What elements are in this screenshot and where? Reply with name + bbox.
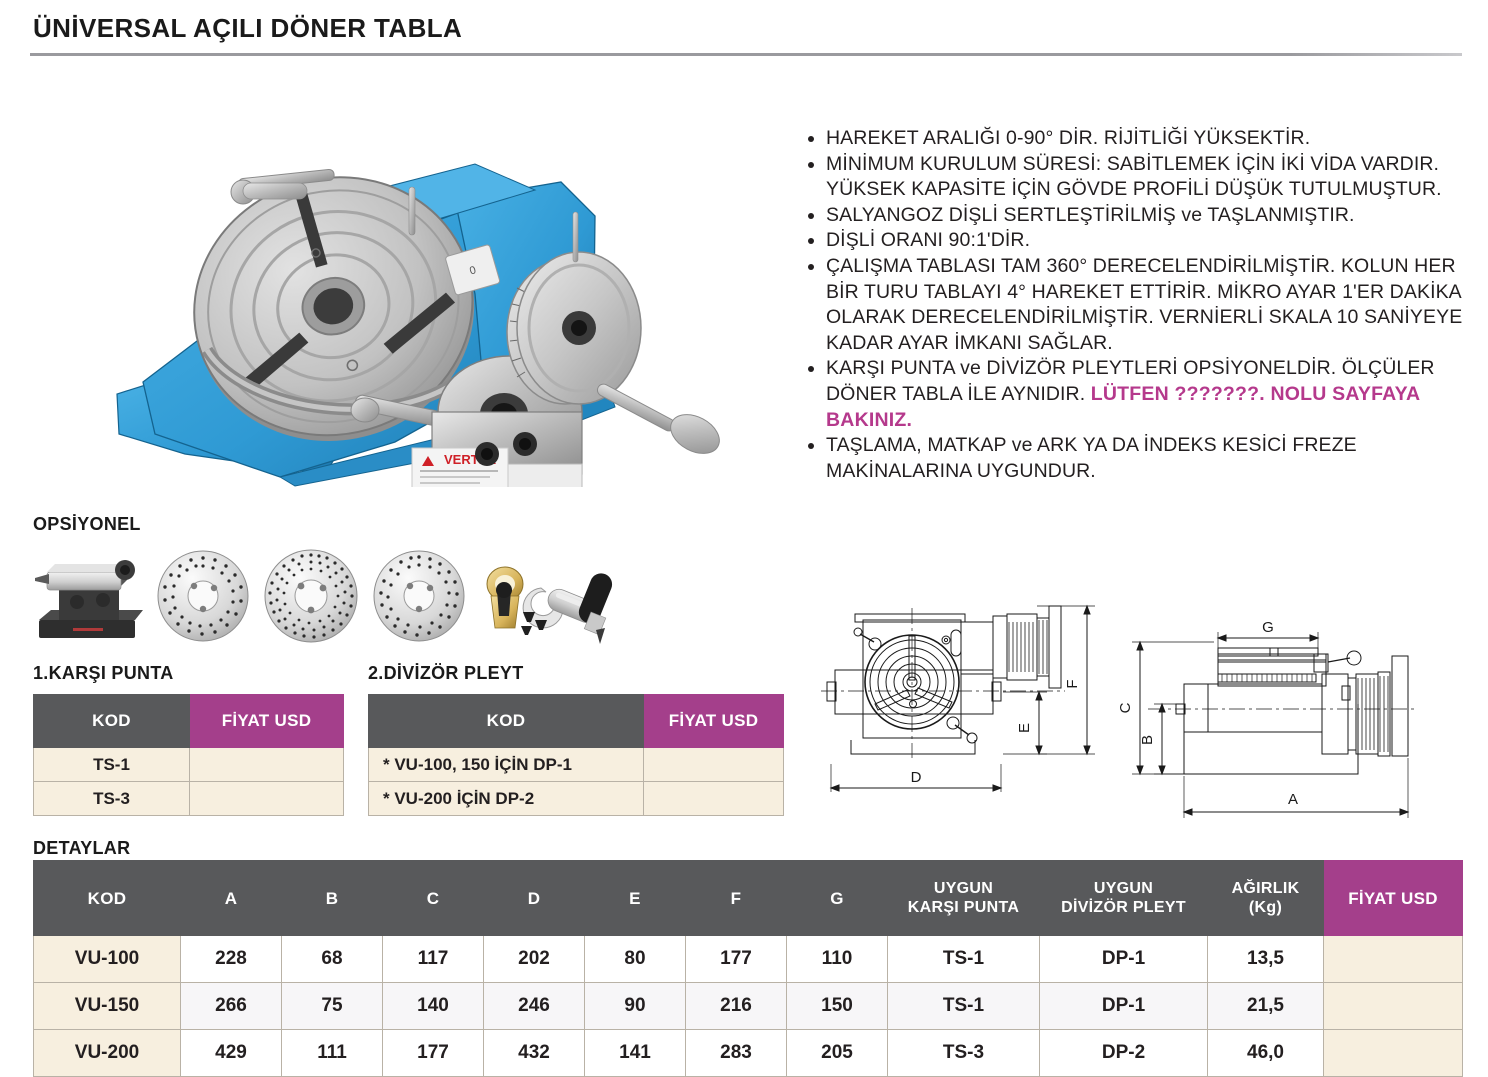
cell-kod: TS-3 <box>34 782 190 816</box>
cell-g: 150 <box>787 983 888 1030</box>
cell-fiyat <box>644 748 784 782</box>
feature-item: SALYANGOZ DİŞLİ SERTLEŞTİRİLMİŞ ve TAŞLA… <box>806 203 1466 229</box>
cell-kod: * VU-200 İÇİN DP-2 <box>369 782 644 816</box>
table-row: TS-1 <box>34 748 344 782</box>
cell-plaka: DP-1 <box>1040 983 1208 1030</box>
feature-item: HAREKET ARALIĞI 0-90° DİR. RİJİTLİĞİ YÜK… <box>806 126 1466 152</box>
technical-drawing-side-view: G C B A <box>1118 612 1458 833</box>
column-header-uygun-divizor-pleyt: UYGUN DİVİZÖR PLEYT <box>1040 861 1208 936</box>
column-header-agirlik: AĞIRLIK (Kg) <box>1208 861 1324 936</box>
divider-plate-1 <box>158 551 248 641</box>
table-row: VU-200 429 111 177 432 141 283 205 TS-3 … <box>34 1030 1463 1077</box>
column-header-g: G <box>787 861 888 936</box>
cell-e: 80 <box>585 936 686 983</box>
cell-agirlik: 13,5 <box>1208 936 1324 983</box>
table-header-row: KOD FİYAT USD <box>34 695 344 748</box>
dim-label-F: F <box>1064 679 1081 688</box>
cell-g: 110 <box>787 936 888 983</box>
header-line-2: DİVİZÖR PLEYT <box>1061 899 1186 916</box>
title-divider <box>30 53 1462 56</box>
section-heading-opsiyonel: OPSİYONEL <box>33 514 141 535</box>
cell-fiyat <box>1324 936 1463 983</box>
cell-fiyat <box>1324 983 1463 1030</box>
cell-f: 283 <box>686 1030 787 1077</box>
cell-agirlik: 21,5 <box>1208 983 1324 1030</box>
cell-plaka: DP-2 <box>1040 1030 1208 1077</box>
section-heading-divizor-pleyt: 2.DİVİZÖR PLEYT <box>368 663 524 684</box>
dim-label-D: D <box>911 769 922 786</box>
cell-kod: * VU-100, 150 İÇİN DP-1 <box>369 748 644 782</box>
cell-b: 75 <box>282 983 383 1030</box>
divizor-pleyt-table: KOD FİYAT USD * VU-100, 150 İÇİN DP-1 * … <box>368 694 784 816</box>
cell-f: 216 <box>686 983 787 1030</box>
feature-item: KARŞI PUNTA ve DİVİZÖR PLEYTLERİ OPSİYON… <box>806 356 1466 433</box>
karsi-punta-table: KOD FİYAT USD TS-1 TS-3 <box>33 694 344 816</box>
cell-d: 246 <box>484 983 585 1030</box>
table-row: VU-100 228 68 117 202 80 177 110 TS-1 DP… <box>34 936 1463 983</box>
cell-punta: TS-3 <box>888 1030 1040 1077</box>
cell-a: 266 <box>181 983 282 1030</box>
feature-item: ÇALIŞMA TABLASI TAM 360° DERECELENDİRİLM… <box>806 254 1466 356</box>
table-header-row: KOD FİYAT USD <box>369 695 784 748</box>
feature-item: MİNİMUM KURULUM SÜRESİ: SABİTLEMEK İÇİN … <box>806 152 1466 203</box>
cell-fiyat <box>190 782 344 816</box>
header-line-2: (Kg) <box>1249 899 1282 916</box>
table-row: TS-3 <box>34 782 344 816</box>
cell-a: 228 <box>181 936 282 983</box>
column-header-b: B <box>282 861 383 936</box>
cell-plaka: DP-1 <box>1040 936 1208 983</box>
cell-c: 177 <box>383 1030 484 1077</box>
cell-c: 140 <box>383 983 484 1030</box>
dim-label-C: C <box>1118 702 1134 713</box>
page-title: ÜNİVERSAL AÇILI DÖNER TABLA <box>33 13 462 44</box>
cell-agirlik: 46,0 <box>1208 1030 1324 1077</box>
cell-fiyat <box>644 782 784 816</box>
column-header-kod: KOD <box>34 861 181 936</box>
dim-label-G: G <box>1262 619 1274 636</box>
column-header-c: C <box>383 861 484 936</box>
optional-accessories-strip <box>33 548 643 644</box>
dim-label-A: A <box>1288 791 1298 808</box>
table-row: * VU-200 İÇİN DP-2 <box>369 782 784 816</box>
column-header-uygun-karsi-punta: UYGUN KARŞI PUNTA <box>888 861 1040 936</box>
cell-kod: VU-200 <box>34 1030 181 1077</box>
table-row: VU-150 266 75 140 246 90 216 150 TS-1 DP… <box>34 983 1463 1030</box>
section-heading-detaylar: DETAYLAR <box>33 838 130 859</box>
feature-list: HAREKET ARALIĞI 0-90° DİR. RİJİTLİĞİ YÜK… <box>806 126 1466 484</box>
cell-c: 117 <box>383 936 484 983</box>
cell-d: 202 <box>484 936 585 983</box>
cell-e: 90 <box>585 983 686 1030</box>
column-header-fiyat: FİYAT USD <box>1324 861 1463 936</box>
cell-f: 177 <box>686 936 787 983</box>
dim-label-B: B <box>1139 735 1156 745</box>
section-heading-karsi-punta: 1.KARŞI PUNTA <box>33 663 174 684</box>
cell-b: 68 <box>282 936 383 983</box>
detaylar-table: KOD A B C D E F G UYGUN KARŞI PUNTA UYGU… <box>33 860 1463 1077</box>
product-photo: 0 VERTEX <box>95 82 735 487</box>
cell-kod: VU-100 <box>34 936 181 983</box>
column-header-e: E <box>585 861 686 936</box>
cell-fiyat <box>190 748 344 782</box>
cell-kod: TS-1 <box>34 748 190 782</box>
table-header-row: KOD A B C D E F G UYGUN KARŞI PUNTA UYGU… <box>34 861 1463 936</box>
divider-plate-3 <box>374 551 464 641</box>
cell-punta: TS-1 <box>888 983 1040 1030</box>
header-line-1: UYGUN <box>1094 880 1153 897</box>
table-row: * VU-100, 150 İÇİN DP-1 <box>369 748 784 782</box>
feature-item: DİŞLİ ORANI 90:1'DİR. <box>806 228 1466 254</box>
cell-g: 205 <box>787 1030 888 1077</box>
header-line-2: KARŞI PUNTA <box>908 899 1019 916</box>
rotary-table-illustration: 0 VERTEX <box>95 82 735 487</box>
column-header-a: A <box>181 861 282 936</box>
column-header-kod: KOD <box>34 695 190 748</box>
accessories-illustration <box>33 548 643 644</box>
column-header-d: D <box>484 861 585 936</box>
cell-kod: VU-150 <box>34 983 181 1030</box>
column-header-fiyat: FİYAT USD <box>644 695 784 748</box>
cell-e: 141 <box>585 1030 686 1077</box>
header-line-1: UYGUN <box>934 880 993 897</box>
cell-a: 429 <box>181 1030 282 1077</box>
tailstock-accessory <box>35 560 143 638</box>
technical-drawing-front-view: D E F <box>815 592 1115 825</box>
cell-punta: TS-1 <box>888 936 1040 983</box>
cell-fiyat <box>1324 1030 1463 1077</box>
header-line-1: AĞIRLIK <box>1232 880 1300 897</box>
dim-label-E: E <box>1016 723 1033 733</box>
column-header-kod: KOD <box>369 695 644 748</box>
divider-plate-2 <box>265 550 357 642</box>
feature-item: TAŞLAMA, MATKAP ve ARK YA DA İNDEKS KESİ… <box>806 433 1466 484</box>
cell-b: 111 <box>282 1030 383 1077</box>
center-finder-accessory <box>545 570 616 644</box>
column-header-fiyat: FİYAT USD <box>190 695 344 748</box>
cell-d: 432 <box>484 1030 585 1077</box>
column-header-f: F <box>686 861 787 936</box>
